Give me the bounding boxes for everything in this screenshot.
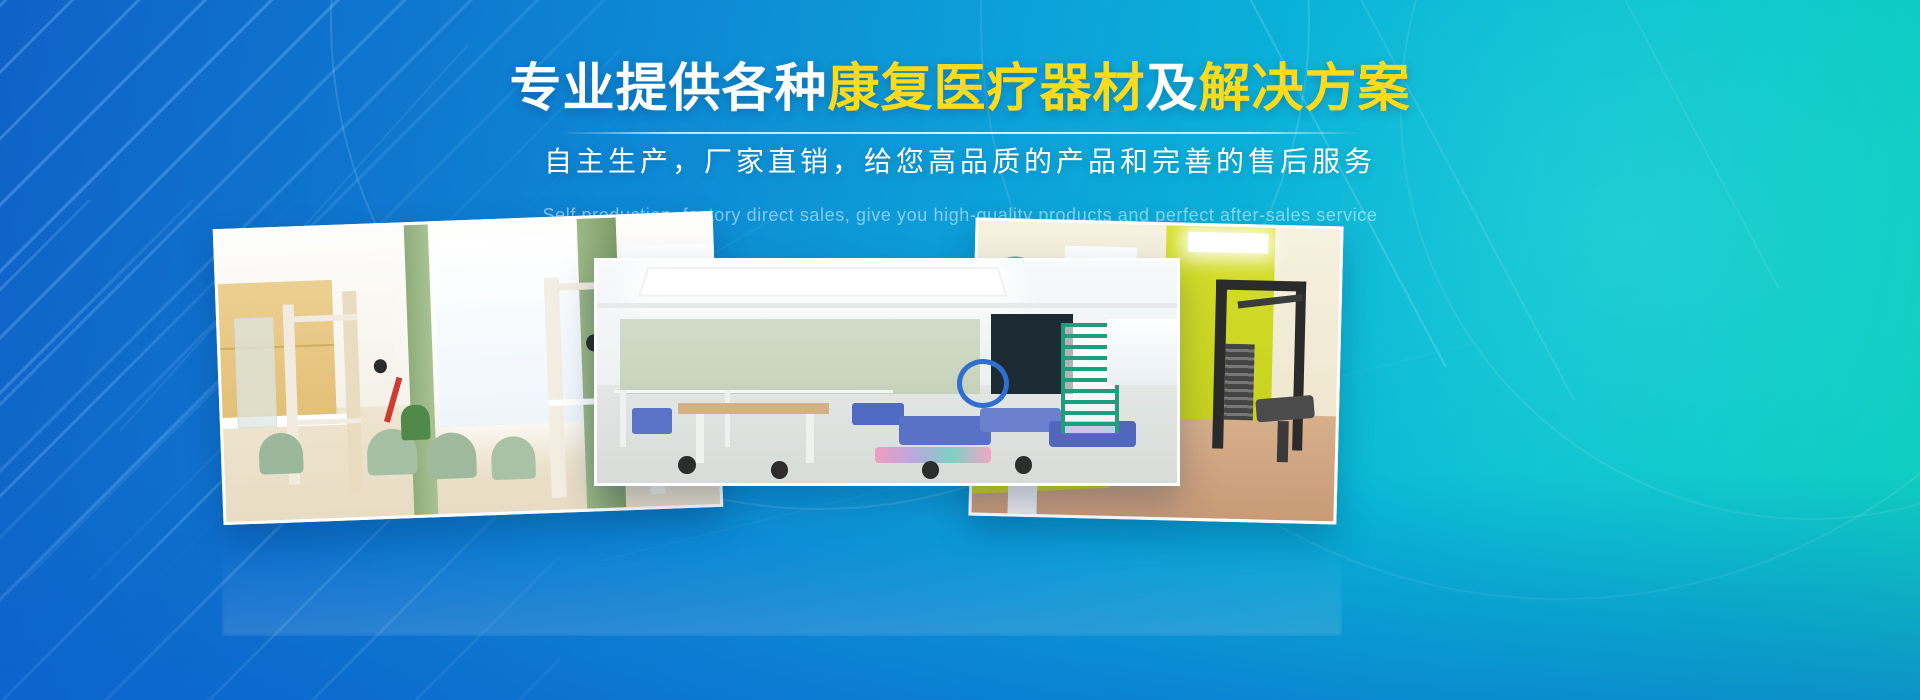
- blue-bed-1: [899, 416, 992, 445]
- treatment-table: [678, 403, 829, 414]
- window-far: [1107, 319, 1177, 386]
- weight-knob-3: [374, 359, 387, 373]
- blue-chair-1: [632, 408, 673, 435]
- castor-wheel-2: [771, 461, 788, 479]
- parallel-bar: [614, 390, 892, 394]
- glass-wall: [620, 319, 980, 394]
- mirror-panel: [234, 317, 278, 429]
- promo-banner: 专业提供各种康复医疗器材及解决方案 自主生产，厂家直销，给您高品质的产品和完善的…: [0, 0, 1920, 700]
- castor-wheel-4: [1015, 456, 1032, 474]
- table-base: [1008, 484, 1038, 514]
- gallery: [0, 0, 1920, 700]
- blue-chair-2: [852, 403, 904, 425]
- table-leg-2: [806, 414, 814, 463]
- plant: [400, 404, 431, 440]
- cable-machine-top: [1216, 279, 1307, 291]
- castor-wheel-1: [678, 456, 695, 474]
- parallel-bar-post: [620, 390, 626, 448]
- ceiling-edge: [597, 303, 1177, 307]
- gallery-image-center[interactable]: [594, 258, 1180, 486]
- gallery-reflection: [222, 516, 1342, 636]
- castor-wheel-3: [922, 461, 939, 479]
- parallel-bar-post-2: [725, 390, 731, 448]
- table-leg: [696, 414, 704, 463]
- ceiling-light: [639, 268, 1008, 297]
- ceiling-light: [1188, 232, 1268, 254]
- shoulder-wheel: [957, 359, 1009, 408]
- photo-scene-center: [597, 261, 1177, 483]
- weight-stack: [1224, 343, 1255, 420]
- bench-leg: [1277, 421, 1289, 462]
